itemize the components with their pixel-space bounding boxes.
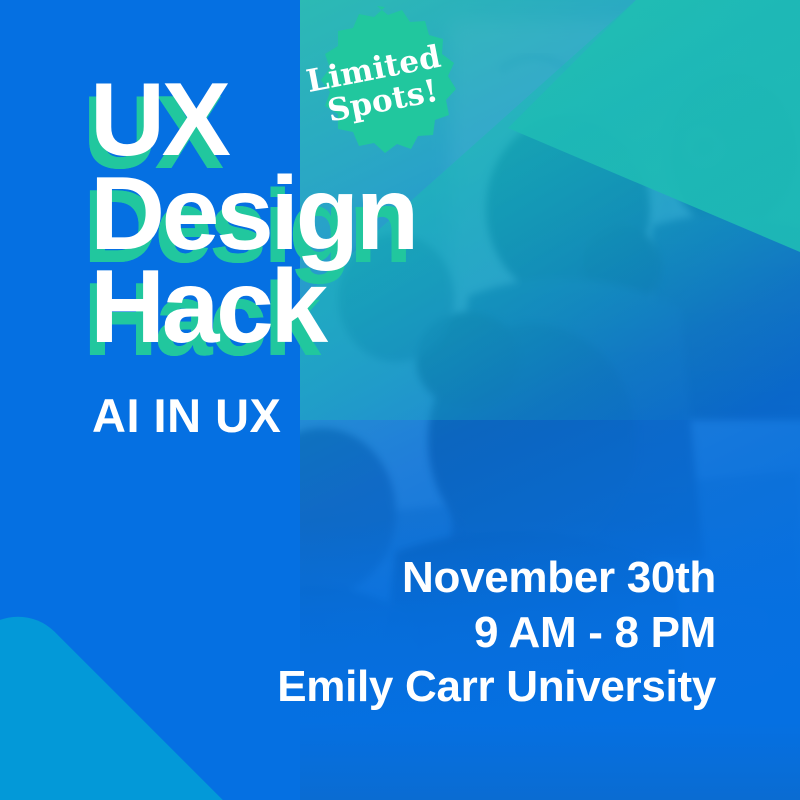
headline-line-2: Design bbox=[90, 168, 416, 262]
event-poster: Limited Spots! UX Design Hack AI IN UX N… bbox=[0, 0, 800, 800]
event-time: 9 AM - 8 PM bbox=[76, 606, 716, 661]
poster-subtitle: AI IN UX bbox=[92, 392, 281, 439]
headline-line-3: Hack bbox=[90, 261, 416, 355]
event-venue: Emily Carr University bbox=[76, 660, 716, 715]
headline-line-1: UX bbox=[90, 74, 416, 168]
poster-headline: UX Design Hack bbox=[90, 74, 416, 355]
event-details: November 30th 9 AM - 8 PM Emily Carr Uni… bbox=[76, 551, 716, 715]
event-date: November 30th bbox=[76, 551, 716, 606]
